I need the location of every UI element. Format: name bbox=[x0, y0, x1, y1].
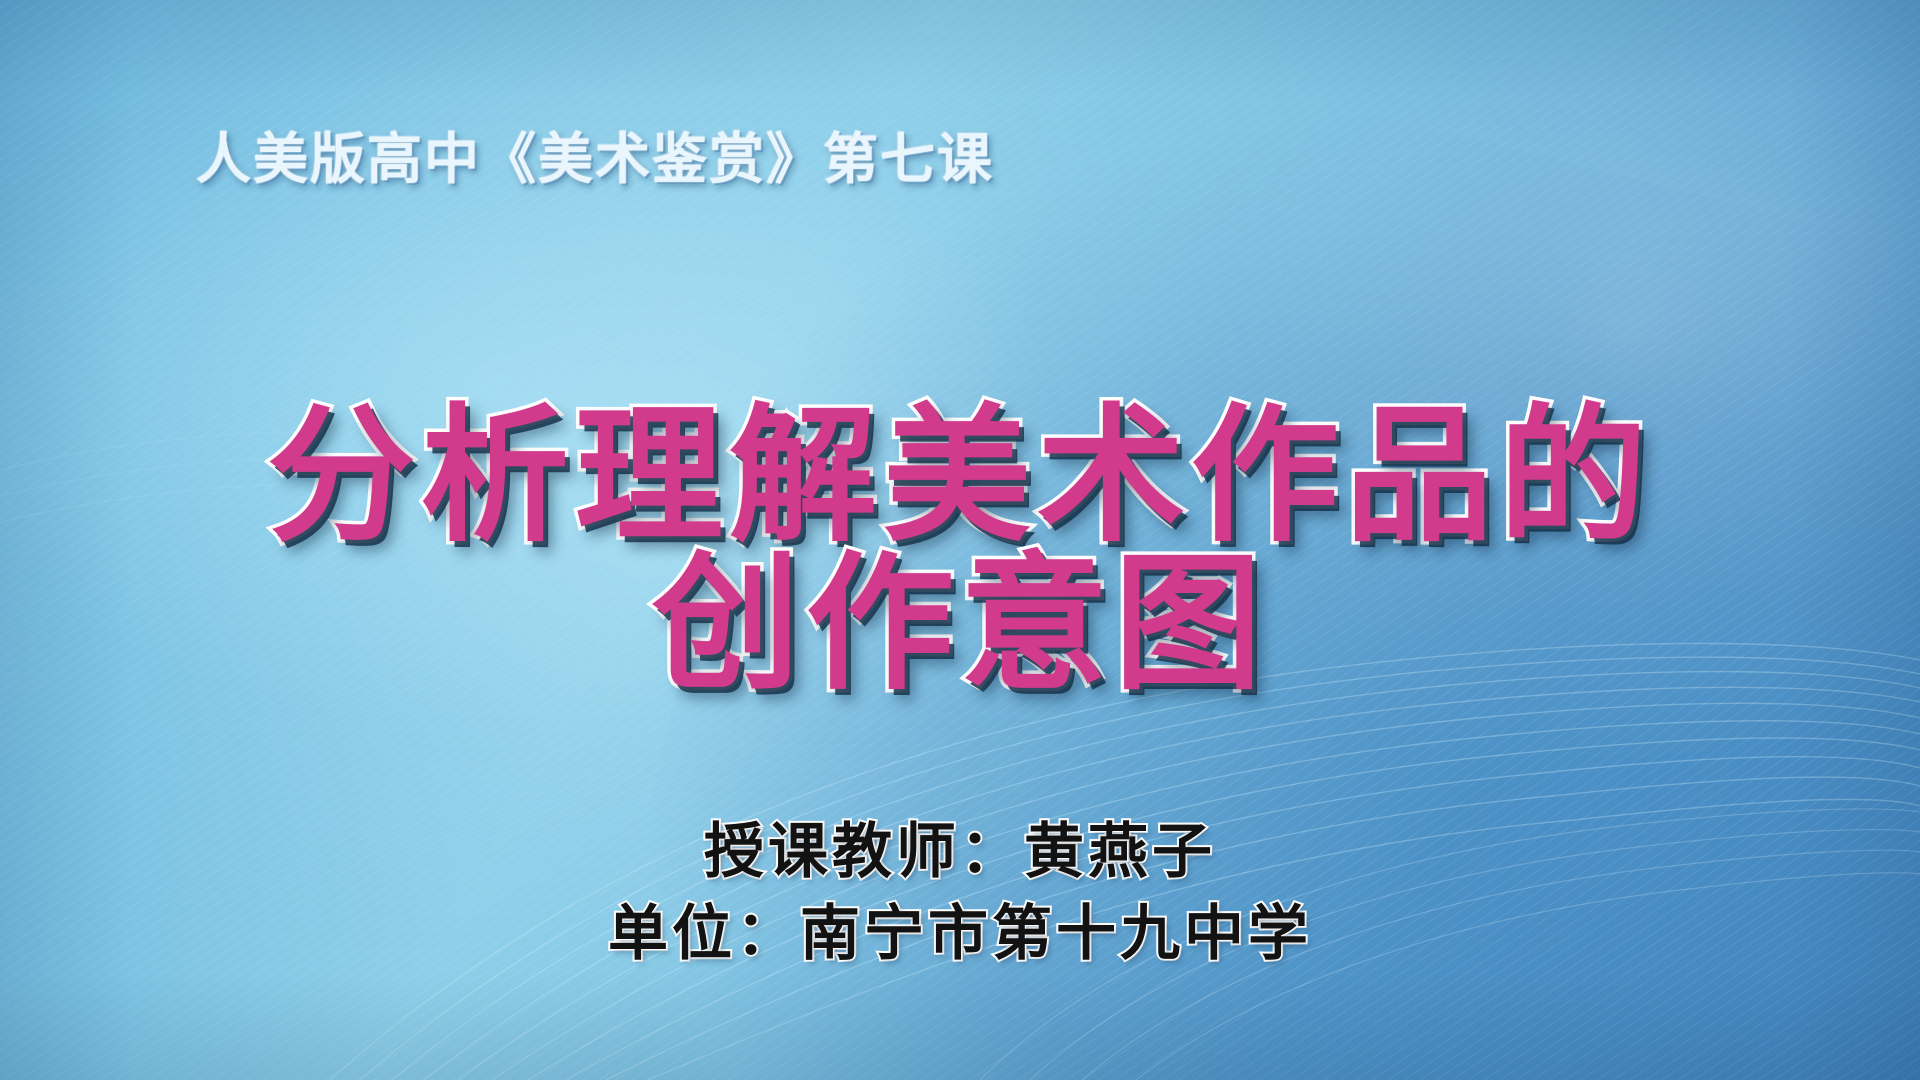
title-line-1: 分析理解美术作品的 bbox=[0, 400, 1920, 554]
presenter-unit-line: 单位：南宁市第十九中学 bbox=[0, 894, 1920, 976]
presenter-teacher-line: 授课教师：黄燕子 bbox=[0, 812, 1920, 894]
presenter-info-block: 授课教师：黄燕子 单位：南宁市第十九中学 bbox=[0, 812, 1920, 975]
course-header-text: 人美版高中《美术鉴赏》第七课 bbox=[196, 128, 994, 191]
title-slide: 人美版高中《美术鉴赏》第七课 分析理解美术作品的 创作意图 授课教师：黄燕子 单… bbox=[0, 0, 1920, 1080]
background-light-sweep-top-right bbox=[1001, 0, 1920, 832]
slide-main-title: 分析理解美术作品的 创作意图 bbox=[0, 400, 1920, 702]
title-line-2: 创作意图 bbox=[0, 548, 1920, 702]
